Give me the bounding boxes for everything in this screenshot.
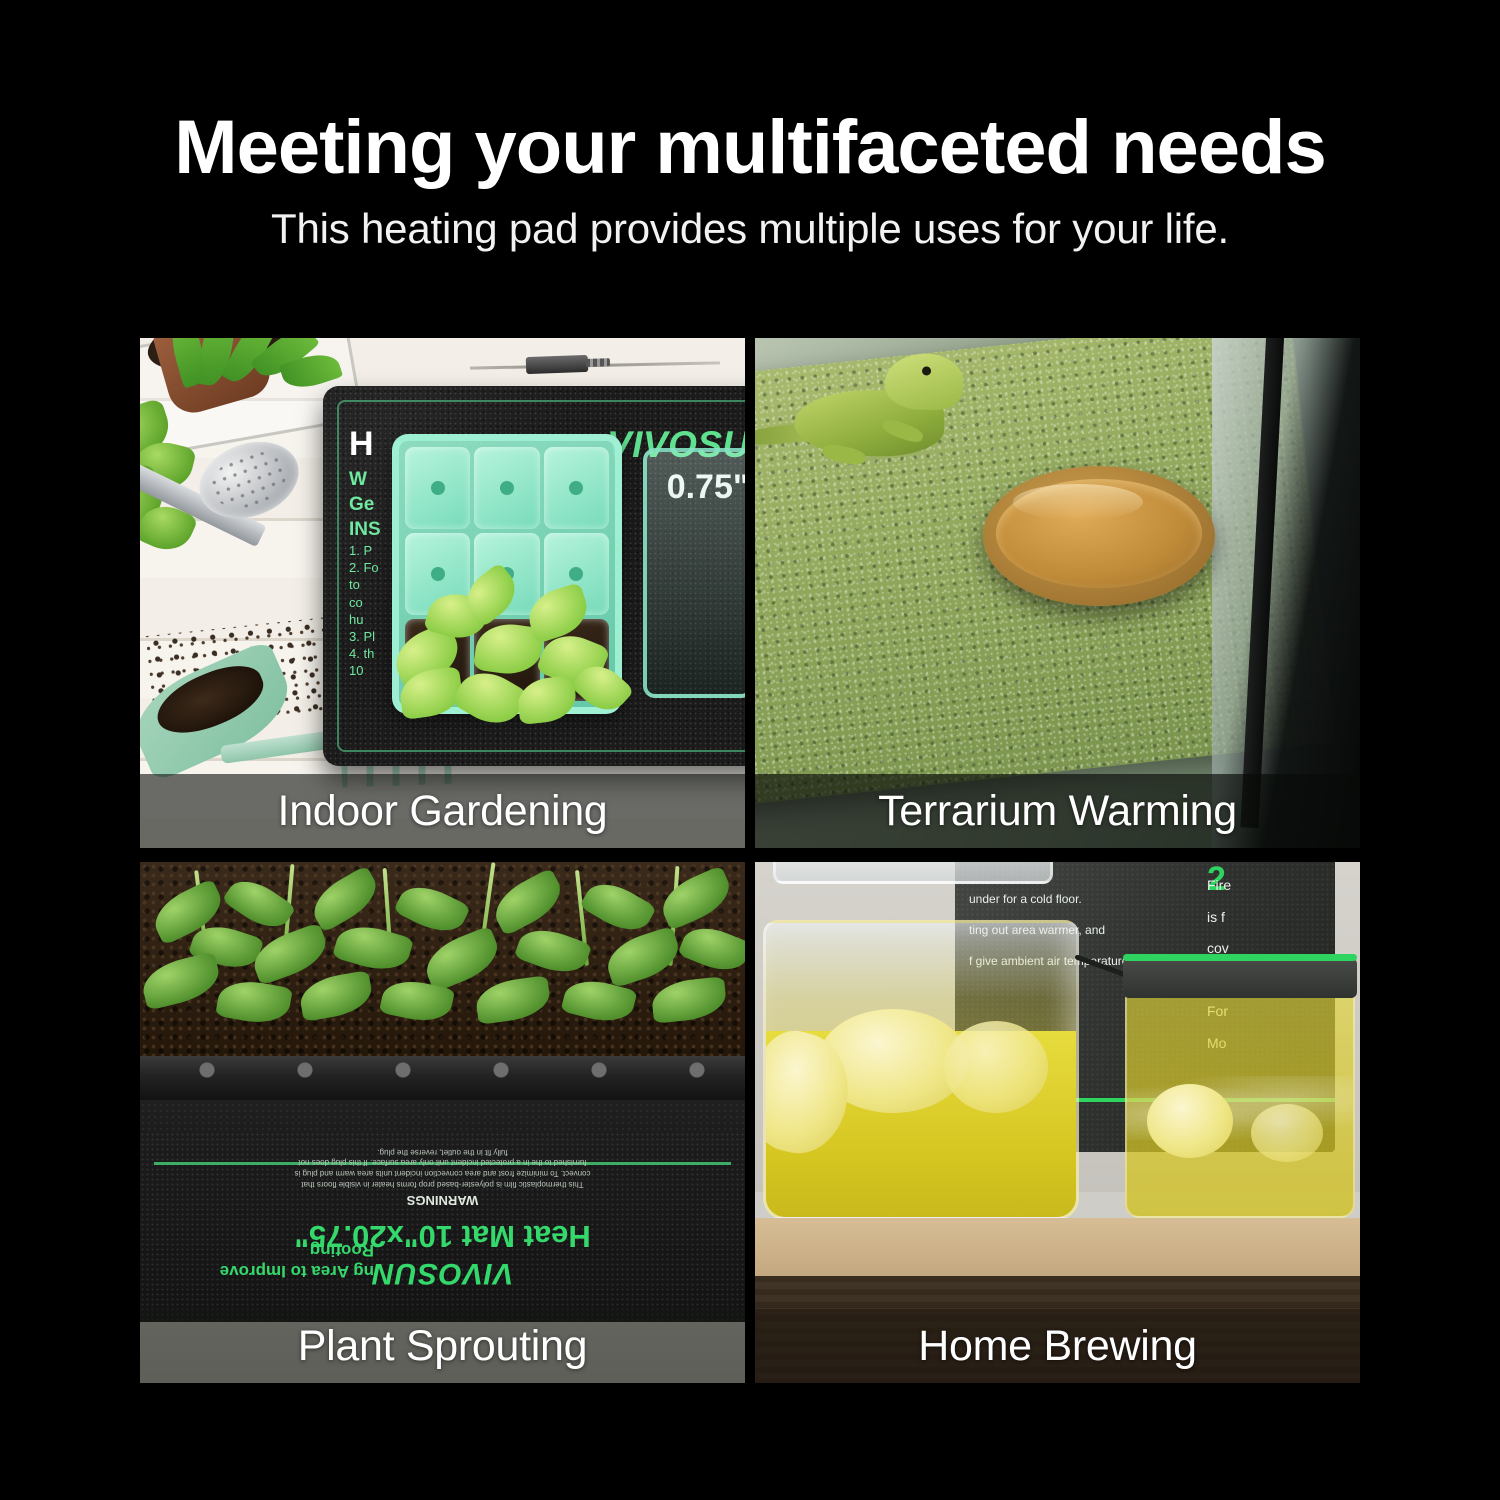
lemon-slice xyxy=(1251,1104,1323,1162)
scene-plant-sprouting: VIVOSUN Heat Mat 10"x20.75" WARNINGS Thi… xyxy=(140,862,745,1383)
scene-home-brewing: 2 under for a cold floor. ting out area … xyxy=(755,862,1360,1383)
header: Meeting your multifaceted needs This hea… xyxy=(0,0,1500,330)
mat-step: to xyxy=(349,576,381,593)
mat-warnings-heading: WARNINGS xyxy=(140,1193,745,1208)
mat-spec-title: H xyxy=(349,422,381,467)
caption-label: Home Brewing xyxy=(918,1322,1196,1371)
mat-step: 1. P xyxy=(349,542,381,559)
terrarium-side-wall xyxy=(1212,338,1360,848)
fermentation-jar-right xyxy=(1125,990,1355,1218)
page-title: Meeting your multifaceted needs xyxy=(0,104,1500,192)
mat-instruction-line: Fire xyxy=(1207,870,1337,902)
mat-step: co xyxy=(349,594,381,611)
caption-bar-terrarium-warming: Terrarium Warming xyxy=(755,774,1360,848)
mason-jar-lid xyxy=(773,862,1053,884)
mat-spec-w: W xyxy=(349,467,381,492)
tray-cell xyxy=(544,447,609,529)
panel-home-brewing[interactable]: 2 under for a cold floor. ting out area … xyxy=(755,862,1360,1383)
mat-step: 4. th xyxy=(349,645,381,662)
caption-label: Terrarium Warming xyxy=(878,787,1237,836)
jar-green-ring xyxy=(1123,954,1357,961)
caption-label: Indoor Gardening xyxy=(278,787,608,836)
mat-spec-ge: Ge xyxy=(349,492,381,517)
mat-step: hu xyxy=(349,611,381,628)
lemon-slice xyxy=(1147,1084,1233,1158)
heat-mat-printed-label: VIVOSUN Heat Mat 10"x20.75" WARNINGS Thi… xyxy=(140,1150,745,1290)
mat-warnings-body: This thermoplastic film is polyester-bas… xyxy=(293,1146,593,1189)
mat-step: 10 xyxy=(349,662,381,679)
seedling-package xyxy=(643,448,745,698)
mat-spec-text: H W Ge INS 1. P 2. Fo to co hu 3. Pl 4. … xyxy=(349,422,381,679)
mat-step: 3. Pl xyxy=(349,628,381,645)
panel-terrarium-warming[interactable]: Terrarium Warming xyxy=(755,338,1360,848)
caption-label: Plant Sprouting xyxy=(298,1322,588,1371)
scene-indoor-gardening: VIVOSUN 0.75" H W Ge INS 1. P 2. Fo to c… xyxy=(140,338,745,848)
mason-jar-left xyxy=(763,920,1079,1220)
tray-cell xyxy=(405,447,470,529)
mat-right-line-2: Rooting xyxy=(154,1240,374,1261)
seedling-sprouts xyxy=(390,574,630,734)
use-case-grid: VIVOSUN 0.75" H W Ge INS 1. P 2. Fo to c… xyxy=(140,338,1360,1383)
caption-bar-home-brewing: Home Brewing xyxy=(755,1309,1360,1383)
caption-bar-plant-sprouting: Plant Sprouting xyxy=(140,1309,745,1383)
power-plug-icon xyxy=(526,355,589,374)
panel-indoor-gardening[interactable]: VIVOSUN 0.75" H W Ge INS 1. P 2. Fo to c… xyxy=(140,338,745,848)
fermentation-jar-lid xyxy=(1123,958,1357,998)
tray-water-drops xyxy=(140,1058,745,1082)
water-surface-highlight xyxy=(1013,484,1143,520)
lemon-slice xyxy=(944,1021,1048,1113)
seedling-rows xyxy=(140,862,745,1056)
mat-right-text: ng Area to Improve Rooting xyxy=(154,1240,374,1283)
mat-spec-ins: INS xyxy=(349,517,381,542)
page-subtitle: This heating pad provides multiple uses … xyxy=(0,203,1500,255)
panel-plant-sprouting[interactable]: VIVOSUN Heat Mat 10"x20.75" WARNINGS Thi… xyxy=(140,862,745,1383)
mat-step: 2. Fo xyxy=(349,559,381,576)
mat-instruction-line: under for a cold floor. xyxy=(969,884,1199,915)
mat-right-line-1: ng Area to Improve xyxy=(154,1261,374,1282)
tray-cell xyxy=(474,447,539,529)
counter-edge xyxy=(755,1218,1360,1278)
scene-terrarium-warming xyxy=(755,338,1360,848)
lizard-head xyxy=(884,352,964,411)
mat-instruction-line: is f xyxy=(1207,902,1337,934)
caption-bar-indoor-gardening: Indoor Gardening xyxy=(140,774,745,848)
